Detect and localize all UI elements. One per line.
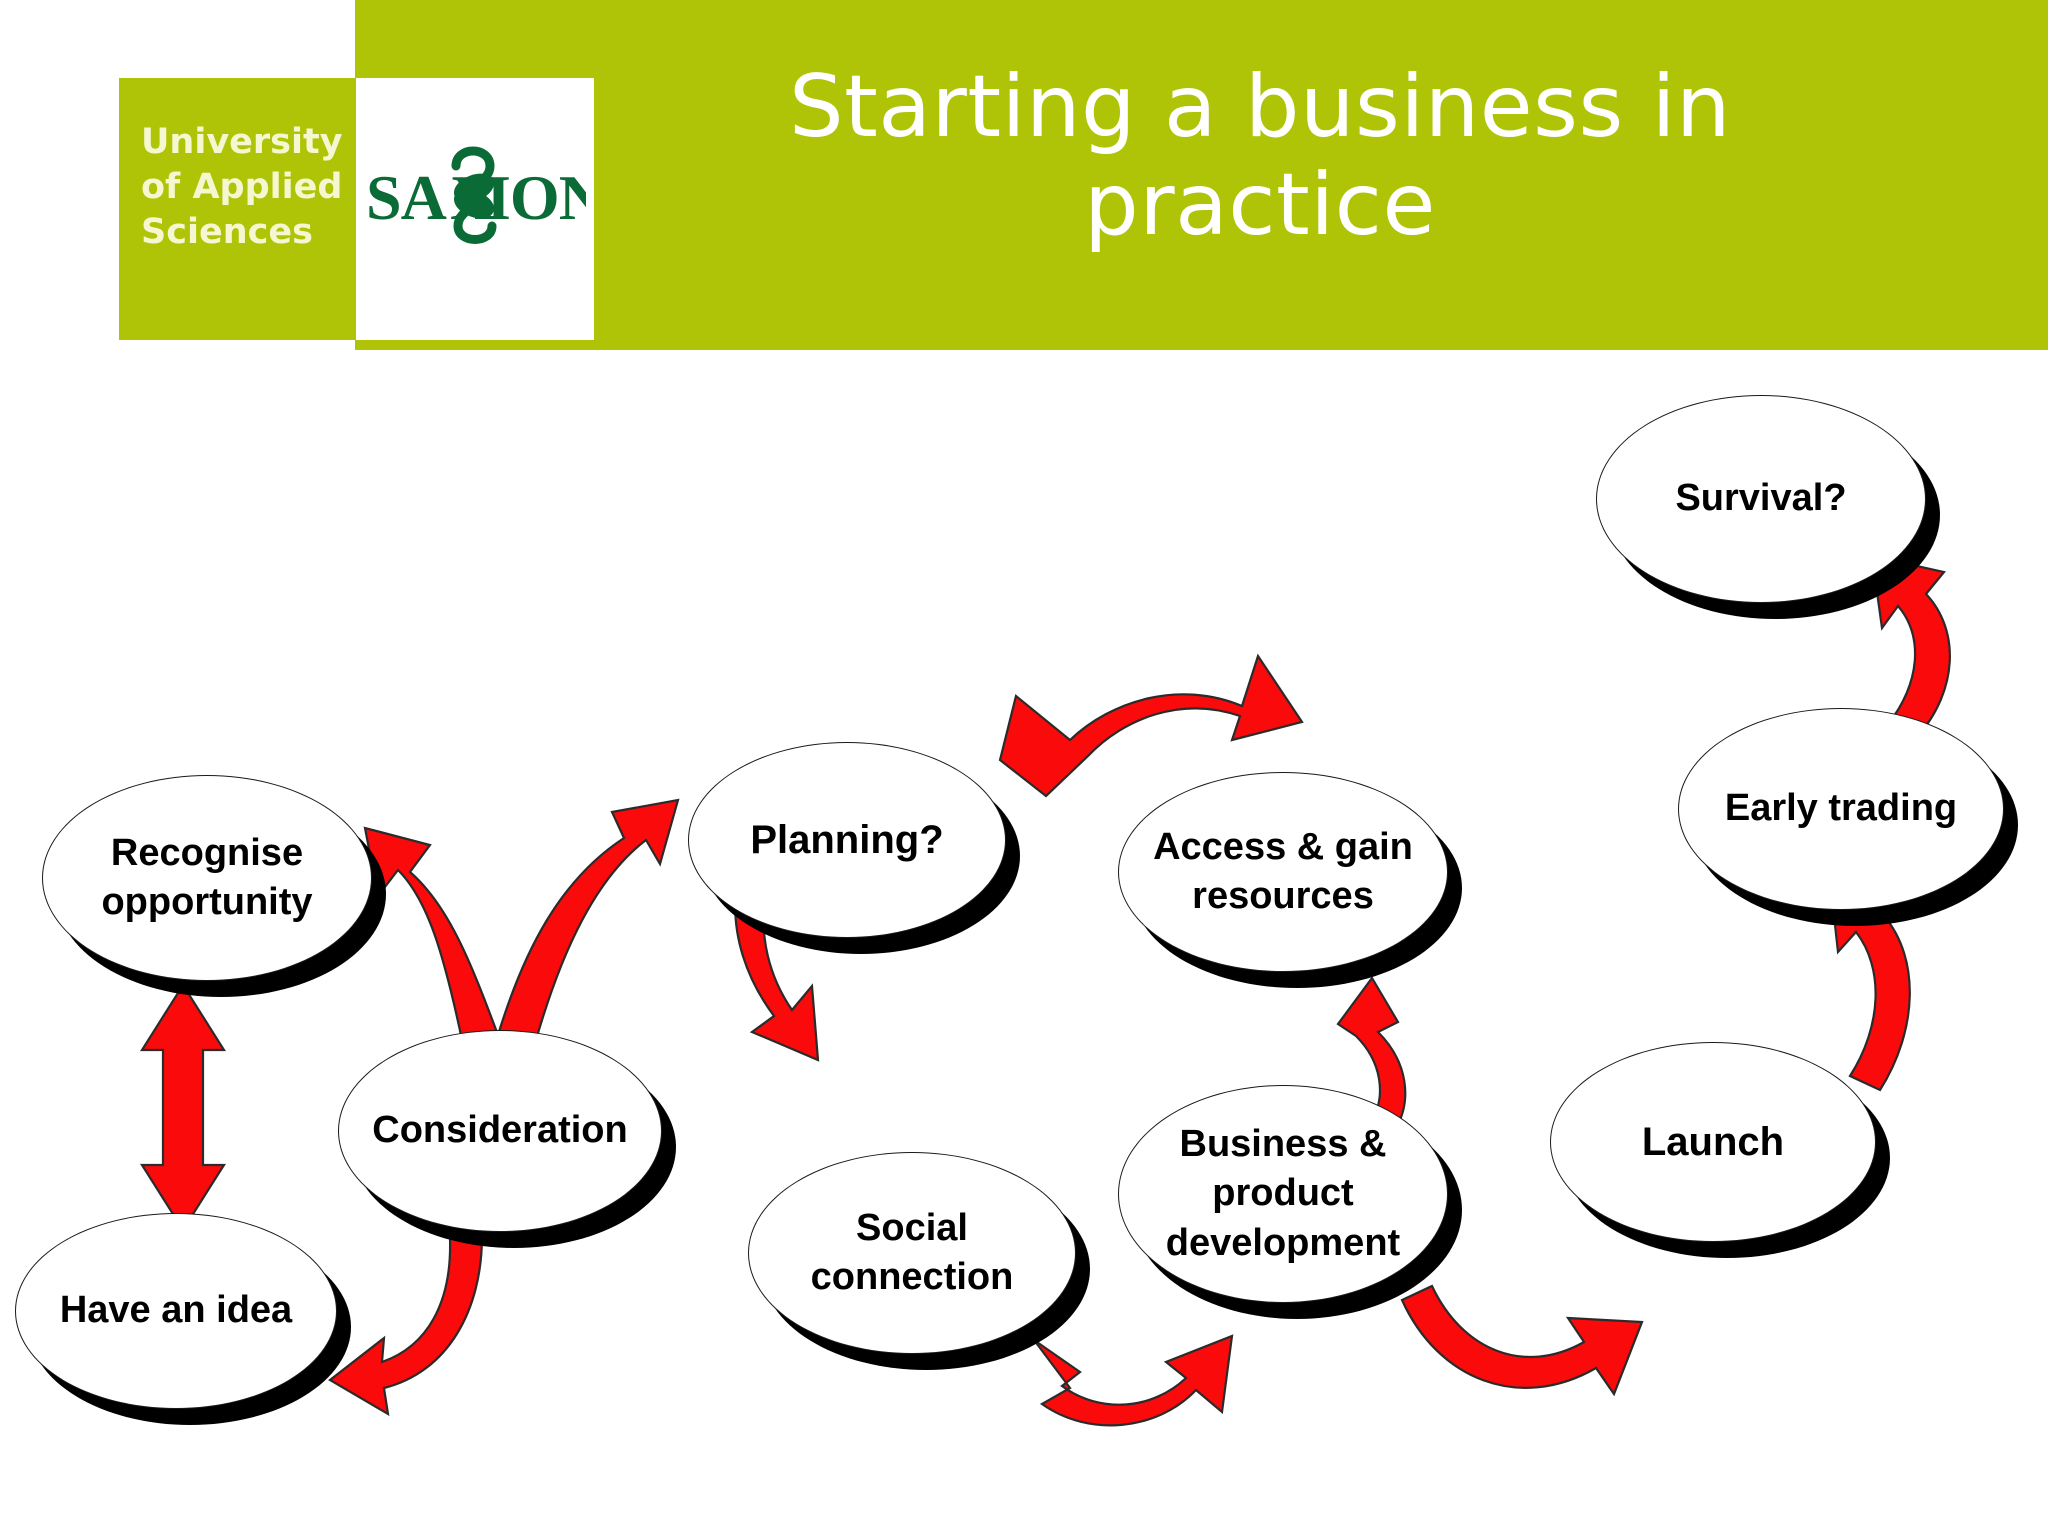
- node-ellipse[interactable]: Early trading: [1678, 708, 2004, 910]
- node-label: Launch: [1632, 1116, 1794, 1168]
- node-recognise-opportunity[interactable]: Recognise opportunity: [42, 775, 372, 981]
- node-label: Survival?: [1665, 474, 1856, 523]
- node-ellipse[interactable]: Consideration: [338, 1030, 662, 1232]
- node-label: Early trading: [1715, 784, 1967, 833]
- slide-canvas: Starting a business in practice Universi…: [0, 0, 2048, 1536]
- edge-consideration-idea: [330, 1236, 482, 1414]
- node-survival[interactable]: Survival?: [1596, 395, 1926, 603]
- node-launch[interactable]: Launch: [1550, 1042, 1876, 1242]
- node-consideration[interactable]: Consideration: [338, 1030, 662, 1232]
- node-planning[interactable]: Planning?: [688, 742, 1006, 938]
- node-ellipse[interactable]: Social connection: [748, 1152, 1076, 1354]
- node-label: Recognise opportunity: [91, 829, 322, 928]
- node-early-trading[interactable]: Early trading: [1678, 708, 2004, 910]
- node-label: Business & product development: [1156, 1120, 1410, 1268]
- node-access-gain-resources[interactable]: Access & gain resources: [1118, 772, 1448, 972]
- node-ellipse[interactable]: Survival?: [1596, 395, 1926, 603]
- node-label: Social connection: [801, 1204, 1024, 1303]
- edge-consideration-planning: [498, 800, 678, 1040]
- node-label: Access & gain resources: [1143, 823, 1423, 922]
- node-label: Consideration: [362, 1106, 637, 1155]
- node-ellipse[interactable]: Planning?: [688, 742, 1006, 938]
- node-ellipse[interactable]: Recognise opportunity: [42, 775, 372, 981]
- node-ellipse[interactable]: Have an idea: [15, 1213, 337, 1409]
- edge-idea-recognise: [142, 985, 224, 1230]
- edge-consideration-recognise: [365, 828, 498, 1040]
- node-ellipse[interactable]: Launch: [1550, 1042, 1876, 1242]
- node-ellipse[interactable]: Business & product development: [1118, 1085, 1448, 1303]
- node-label: Planning?: [740, 814, 953, 866]
- node-social-connection[interactable]: Social connection: [748, 1152, 1076, 1354]
- node-have-an-idea[interactable]: Have an idea: [15, 1213, 337, 1409]
- node-ellipse[interactable]: Access & gain resources: [1118, 772, 1448, 972]
- node-label: Have an idea: [50, 1286, 302, 1335]
- business-startup-flow-diagram: .arw { fill:#FA0A0A; stroke:#2b2b2b; str…: [0, 0, 2048, 1536]
- node-business-product-development[interactable]: Business & product development: [1118, 1085, 1448, 1303]
